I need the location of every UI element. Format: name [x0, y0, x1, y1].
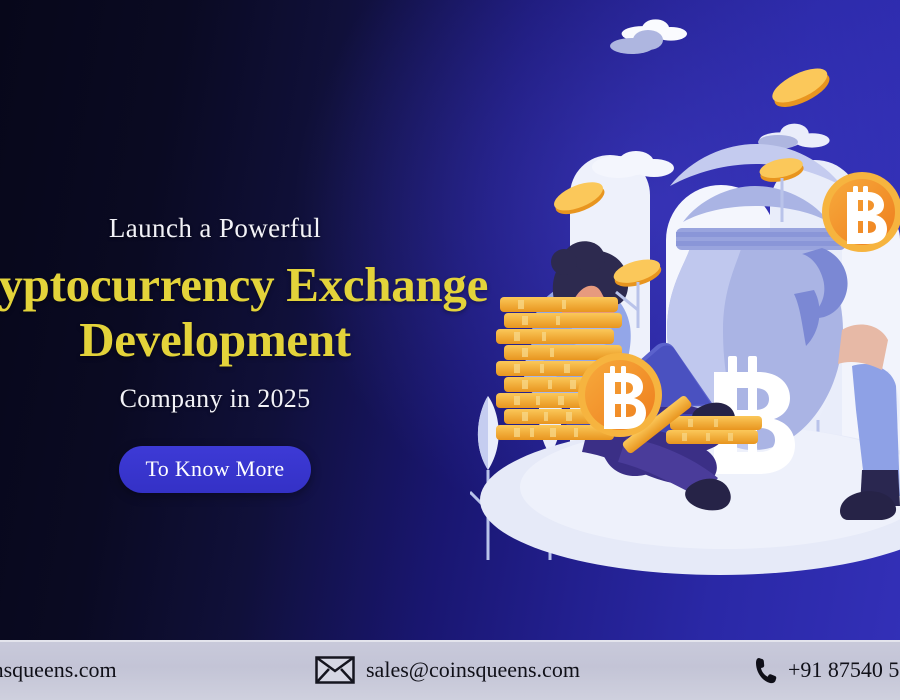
cloud-dark-icon [610, 30, 798, 149]
kicker-text: Launch a Powerful [0, 214, 525, 244]
footer-phone[interactable]: +91 87540 53377 [755, 656, 900, 684]
footer-email[interactable]: sales@coinsqueens.com [315, 656, 580, 684]
crypto-illustration [470, 0, 900, 640]
headline-line-2: Development [0, 313, 525, 368]
footer-website[interactable]: www.coinsqueens.com [0, 657, 117, 683]
bitcoin-coin-edge [822, 172, 900, 252]
page-title: Cryptocurrency Exchange Development [0, 258, 525, 368]
headline-block: Launch a Powerful Cryptocurrency Exchang… [0, 214, 525, 493]
to-know-more-button[interactable]: To Know More [119, 446, 312, 493]
phone-text: +91 87540 53377 [788, 657, 900, 683]
bitcoin-coin-large [578, 353, 662, 437]
headline-line-1: Cryptocurrency Exchange [0, 257, 488, 312]
subheadline-text: Company in 2025 [0, 384, 525, 414]
phone-icon [755, 656, 777, 684]
contact-footer: www.coinsqueens.com sales@coinsqueens.co… [0, 640, 900, 700]
email-text: sales@coinsqueens.com [366, 657, 580, 683]
website-text: www.coinsqueens.com [0, 657, 117, 683]
cta-container: To Know More [0, 446, 525, 493]
promo-banner: Launch a Powerful Cryptocurrency Exchang… [0, 0, 900, 700]
envelope-icon [315, 656, 355, 684]
